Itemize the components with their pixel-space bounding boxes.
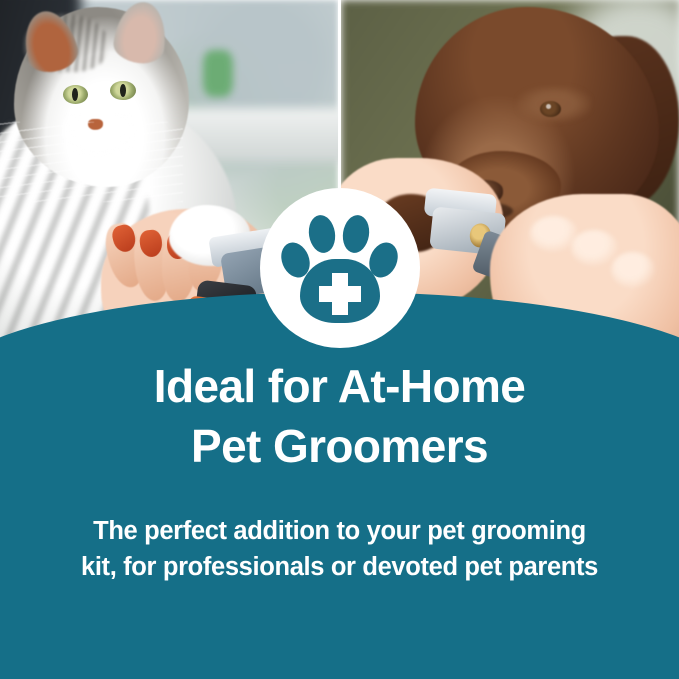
clinic-green-bottle <box>203 50 233 97</box>
puppy-eye <box>540 101 560 117</box>
subheadline: The perfect addition to your pet groomin… <box>28 513 651 585</box>
headline-line-1: Ideal for At-Home <box>0 357 679 417</box>
headline: Ideal for At-Home Pet Groomers <box>0 357 679 477</box>
paw-toe-pad <box>340 213 372 255</box>
paw-toe-pad <box>306 213 338 255</box>
cat-right-eye <box>110 81 136 100</box>
headline-line-2: Pet Groomers <box>0 417 679 477</box>
paw-logo-badge <box>260 188 420 348</box>
subheadline-line-2: kit, for professionals or devoted pet pa… <box>28 549 651 585</box>
medical-cross-horizontal <box>319 286 361 302</box>
cat-left-eye <box>63 85 89 104</box>
paw-print-with-medical-cross-icon <box>278 206 402 330</box>
subheadline-line-1: The perfect addition to your pet groomin… <box>28 513 651 549</box>
cat-whiskers <box>0 122 183 201</box>
product-lifestyle-banner: Ideal for At-Home Pet Groomers The perfe… <box>0 0 679 679</box>
